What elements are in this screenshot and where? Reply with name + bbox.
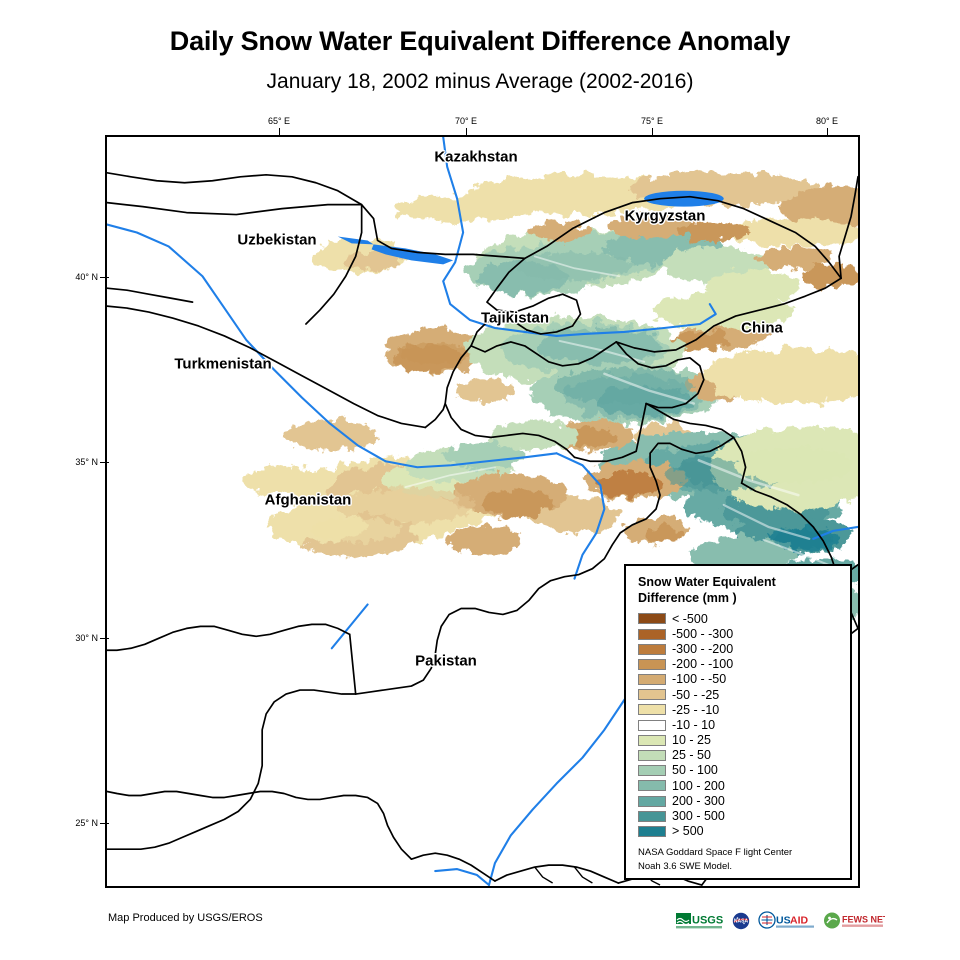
legend-swatch [638,735,666,746]
legend-item[interactable]: 25 - 50 [638,748,840,763]
legend-item[interactable]: 100 - 200 [638,778,840,793]
legend-source-line1: NASA Goddard Space F light Center [638,846,840,860]
legend-label: -100 - -50 [672,673,726,686]
legend-swatch [638,704,666,715]
legend-item[interactable]: -10 - 10 [638,718,840,733]
legend-label: -10 - 10 [672,719,715,732]
fewsnet-logo[interactable]: FEWS NET [823,909,885,933]
legend-title-line2: Difference (mm ) [638,591,840,607]
legend-swatch [638,674,666,685]
svg-text:US: US [776,915,791,927]
svg-text:AID: AID [790,915,809,927]
lon-tick-mark [652,128,653,137]
legend-label: 300 - 500 [672,810,725,823]
legend-swatch [638,629,666,640]
legend-swatch [638,796,666,807]
legend-swatch [638,765,666,776]
legend-source-line2: Noah 3.6 SWE Model. [638,860,840,874]
page-subtitle: January 18, 2002 minus Average (2002-201… [0,70,960,94]
legend-source: NASA Goddard Space F light Center Noah 3… [638,846,840,874]
legend-label: 200 - 300 [672,795,725,808]
legend-item[interactable]: -100 - -50 [638,672,840,687]
legend-item[interactable]: > 500 [638,824,840,839]
legend-item[interactable]: < -500 [638,611,840,626]
svg-text:USGS: USGS [692,915,723,927]
lat-tick-35: 35° N [68,457,98,467]
lat-tick-30: 30° N [68,633,98,643]
lon-tick-75: 75° E [641,116,663,126]
svg-text:NASA: NASA [734,919,749,925]
lon-tick-70: 70° E [455,116,477,126]
legend-item[interactable]: -200 - -100 [638,657,840,672]
lon-tick-mark [466,128,467,137]
legend-title-line1: Snow Water Equivalent [638,575,840,591]
legend-swatch [638,826,666,837]
lat-tick-mark [100,462,109,463]
legend-item[interactable]: 200 - 300 [638,794,840,809]
legend-label: < -500 [672,613,708,626]
legend-label: -300 - -200 [672,643,733,656]
legend-title: Snow Water Equivalent Difference (mm ) [638,575,840,606]
lat-tick-mark [100,638,109,639]
legend-item[interactable]: 300 - 500 [638,809,840,824]
legend-swatch [638,780,666,791]
lat-tick-25: 25° N [68,818,98,828]
legend-label: 25 - 50 [672,749,711,762]
legend-swatch [638,659,666,670]
legend-label: -500 - -300 [672,628,733,641]
legend-swatch [638,720,666,731]
legend-label: 100 - 200 [672,780,725,793]
lon-tick-mark [827,128,828,137]
legend-swatch [638,811,666,822]
legend-swatch [638,689,666,700]
lat-tick-mark [100,277,109,278]
nasa-logo[interactable]: NASA [731,909,751,933]
legend-label: > 500 [672,825,704,838]
legend-item[interactable]: -300 - -200 [638,642,840,657]
legend-item[interactable]: -500 - -300 [638,626,840,641]
usgs-logo[interactable]: USGS [676,909,724,933]
page-title: Daily Snow Water Equivalent Difference A… [0,26,960,57]
legend-swatch [638,613,666,624]
legend-swatch [638,750,666,761]
svg-text:FEWS NET: FEWS NET [842,915,885,925]
legend-label: 50 - 100 [672,764,718,777]
map-frame[interactable]: Kazakhstan Uzbekistan Kyrgyzstan Tajikis… [105,135,860,888]
legend-item[interactable]: 50 - 100 [638,763,840,778]
legend-box[interactable]: Snow Water Equivalent Difference (mm ) <… [624,564,852,880]
lat-tick-mark [100,823,109,824]
usaid-logo[interactable]: US AID [758,909,816,933]
legend-swatch [638,644,666,655]
lon-tick-mark [279,128,280,137]
legend-label: 10 - 25 [672,734,711,747]
agency-logos: USGS NASA US AID FEWS NET [676,908,885,934]
legend-item[interactable]: -50 - -25 [638,687,840,702]
legend-label: -200 - -100 [672,658,733,671]
lon-tick-80: 80° E [816,116,838,126]
legend-label: -25 - -10 [672,704,719,717]
lat-tick-40: 40° N [68,272,98,282]
lon-tick-65: 65° E [268,116,290,126]
legend-item[interactable]: -25 - -10 [638,702,840,717]
legend-item[interactable]: 10 - 25 [638,733,840,748]
legend-label: -50 - -25 [672,689,719,702]
map-credit: Map Produced by USGS/EROS [108,912,263,924]
